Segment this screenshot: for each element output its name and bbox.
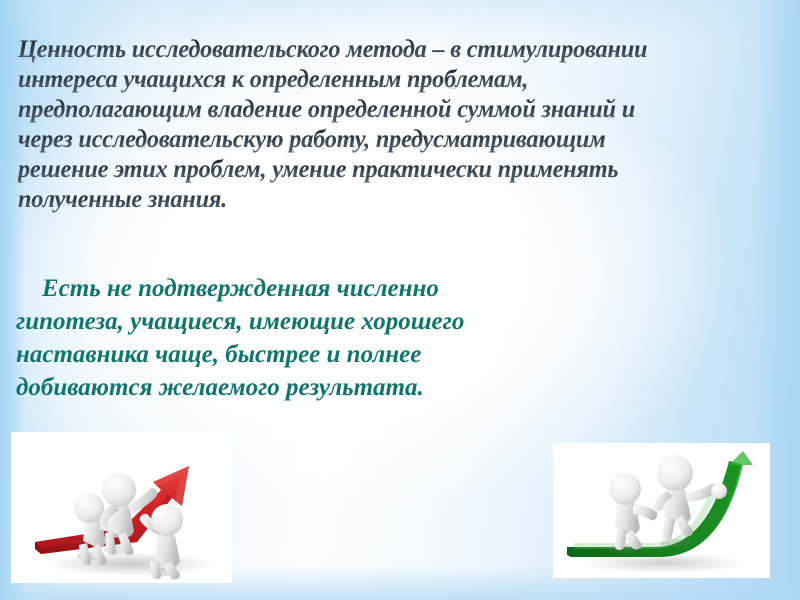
- slide-heading: Ценность исследовательского метода – в с…: [18, 36, 768, 216]
- body-paragraph: Есть не подтвержденная численно гипотеза…: [16, 272, 546, 404]
- heading-line: Ценность исследовательского метода – в с…: [18, 36, 768, 66]
- heading-line: через исследовательскую работу, предусма…: [18, 126, 768, 156]
- heading-line-text: Ценность исследовательского метода – в с…: [18, 36, 746, 63]
- heading-line-text: интереса учащихся к определенным проблем…: [18, 66, 746, 93]
- slide-canvas: Ценность исследовательского метода – в с…: [0, 0, 800, 600]
- image-two-figures-green-arrow: [553, 443, 770, 578]
- heading-line-text: предполагающим владение определенной сум…: [18, 96, 746, 123]
- heading-line: решение этих проблем, умение практически…: [18, 156, 768, 186]
- heading-line-text: решение этих проблем, умение практически…: [18, 156, 746, 183]
- heading-line-text: через исследовательскую работу, предусма…: [18, 126, 746, 153]
- heading-line-text: полученные знания.: [18, 186, 746, 213]
- image-three-figures-red-arrow: [11, 432, 232, 583]
- heading-line: полученные знания. полученные знания.: [18, 186, 768, 216]
- heading-line: интереса учащихся к определенным проблем…: [18, 66, 768, 96]
- heading-line: предполагающим владение определенной сум…: [18, 96, 768, 126]
